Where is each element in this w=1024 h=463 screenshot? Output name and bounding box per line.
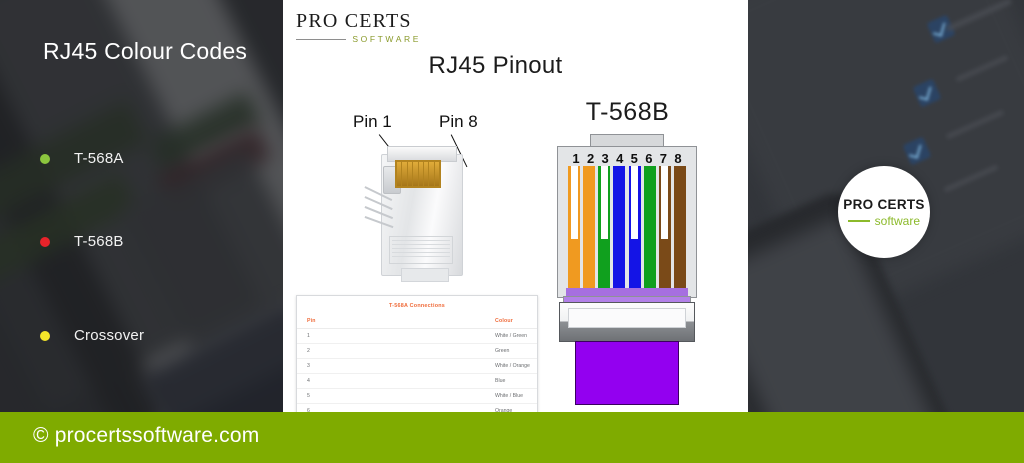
- table-header-row: PinColour: [297, 314, 537, 329]
- footer-copyright: © procertssoftware.com: [33, 424, 259, 448]
- pin-number-4: 4: [613, 151, 627, 166]
- pin-number-5: 5: [627, 151, 641, 166]
- wire-pin-8: [674, 166, 686, 291]
- pin-number-3: 3: [598, 151, 612, 166]
- table-row: 2Green: [297, 344, 537, 359]
- cell-pin: 4: [297, 374, 417, 389]
- procerts-logo: PRO CERTS SOFTWARE: [296, 10, 421, 44]
- pin-number-1: 1: [569, 151, 583, 166]
- legend-label: Crossover: [74, 327, 144, 344]
- wire-pin-6: [644, 166, 656, 291]
- pin-number-6: 6: [642, 151, 656, 166]
- legend-item-crossover[interactable]: Crossover: [40, 327, 144, 344]
- procerts-circular-badge: PRO CERTS software: [838, 166, 930, 258]
- table-header-colour: Colour: [417, 314, 537, 329]
- cell-pin: 2: [297, 344, 417, 359]
- legend-item-t568a[interactable]: T-568A: [40, 150, 124, 167]
- jack-grill: [389, 236, 453, 264]
- pin-number-row: 12345678: [566, 150, 688, 166]
- jack-base: [401, 268, 449, 282]
- plug-body: [559, 302, 695, 342]
- footer-bar: © procertssoftware.com: [0, 412, 1024, 463]
- cell-colour: White / Blue: [417, 389, 537, 404]
- legend-label: T-568B: [74, 233, 124, 250]
- table-title: T-568A Connections: [297, 296, 537, 314]
- wire-row: [566, 166, 688, 291]
- left-panel: RJ45 Colour Codes T-568A T-568B Crossove…: [0, 0, 283, 463]
- wire-pin-4: [613, 166, 625, 291]
- cell-colour: Blue: [417, 374, 537, 389]
- pin-number-8: 8: [671, 151, 685, 166]
- rj45-jack-illustration: Pin 1 Pin 8: [339, 108, 519, 298]
- pin-number-7: 7: [656, 151, 670, 166]
- table-row: 1White / Green: [297, 329, 537, 344]
- badge-secondary-text: software: [875, 214, 920, 228]
- table-row: 3White / Orange: [297, 359, 537, 374]
- wire-pin-1: [568, 166, 580, 291]
- cell-pin: 5: [297, 389, 417, 404]
- jack-gold-contacts: [395, 160, 441, 188]
- legend-dot-icon: [40, 237, 50, 247]
- wire-white-stripe: [571, 166, 578, 239]
- cell-pin: 3: [297, 359, 417, 374]
- legend-dot-icon: [40, 154, 50, 164]
- table-row: 5White / Blue: [297, 389, 537, 404]
- wire-white-stripe: [661, 166, 668, 239]
- rj45-plug-illustration: T-568B 12345678: [535, 98, 720, 408]
- logo-secondary-text: SOFTWARE: [352, 34, 421, 44]
- table-row: 4Blue: [297, 374, 537, 389]
- pin-8-label: Pin 8: [439, 112, 478, 132]
- wire-white-stripe: [601, 166, 608, 239]
- page-title: RJ45 Colour Codes: [43, 36, 258, 66]
- wire-pin-3: [598, 166, 610, 291]
- pin-number-2: 2: [584, 151, 598, 166]
- jack-wire-bundle: [365, 186, 395, 232]
- wire-pin-5: [629, 166, 641, 291]
- cell-colour: White / Green: [417, 329, 537, 344]
- wire-white-stripe: [631, 166, 638, 239]
- badge-primary-text: PRO CERTS: [843, 197, 924, 212]
- wire-pin-2: [583, 166, 595, 291]
- legend-dot-icon: [40, 331, 50, 341]
- t568b-title: T-568B: [535, 98, 720, 127]
- pinout-heading: RJ45 Pinout: [333, 52, 658, 80]
- logo-primary-text: PRO CERTS: [296, 10, 421, 33]
- wire-pin-7: [659, 166, 671, 291]
- logo-rule: [296, 39, 346, 40]
- content-card: PRO CERTS SOFTWARE RJ45 Pinout Pin 1 Pin…: [283, 0, 748, 412]
- badge-rule: [848, 220, 870, 222]
- cell-pin: 1: [297, 329, 417, 344]
- cell-colour: White / Orange: [417, 359, 537, 374]
- pin-1-label: Pin 1: [353, 112, 392, 132]
- cell-colour: Green: [417, 344, 537, 359]
- table-header-pin: Pin: [297, 314, 417, 329]
- legend-label: T-568A: [74, 150, 124, 167]
- cable-jacket: [575, 341, 679, 405]
- legend-item-t568b[interactable]: T-568B: [40, 233, 124, 250]
